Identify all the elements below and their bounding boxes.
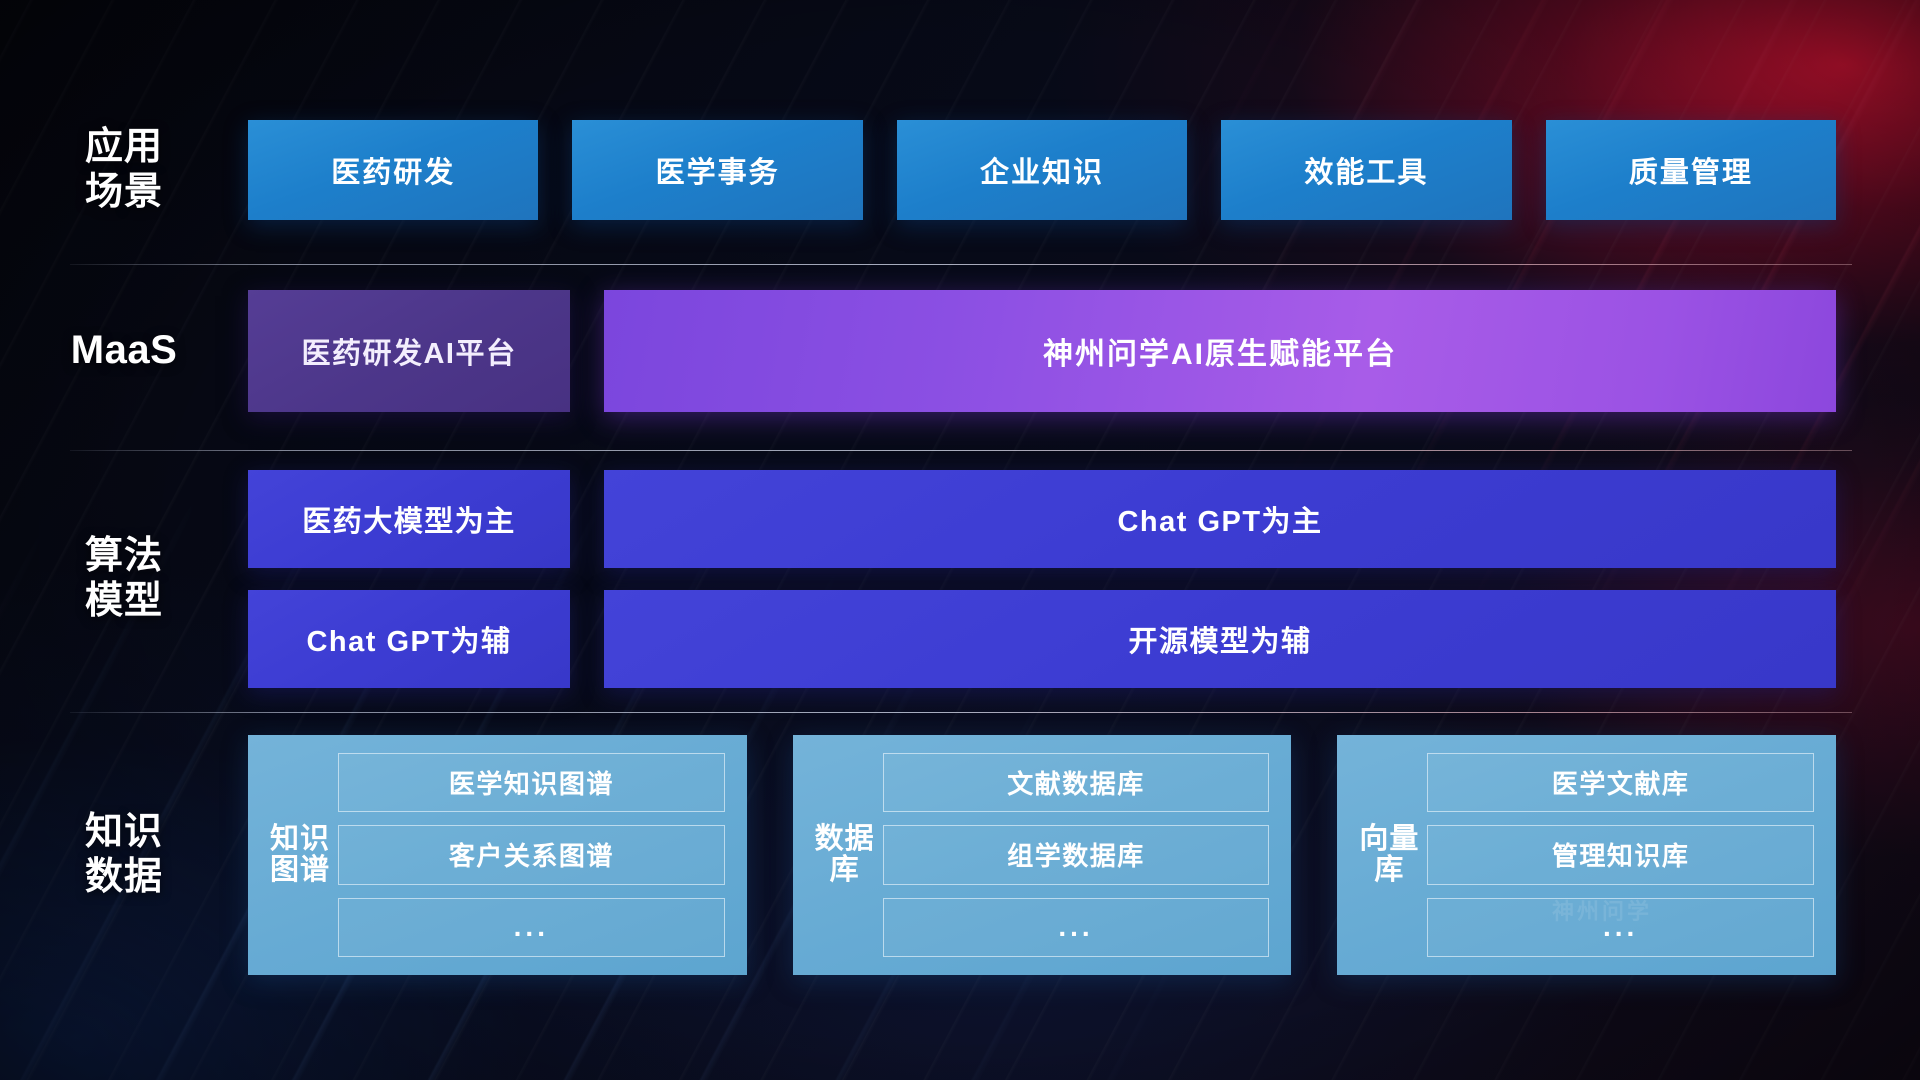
knowledge-item-list: 医学文献库 管理知识库 ... <box>1427 753 1814 957</box>
application-card[interactable]: 医学事务 <box>572 120 862 220</box>
algorithm-row: 医药大模型为主 Chat GPT为主 <box>248 470 1836 568</box>
knowledge-item-list: 文献数据库 组学数据库 ... <box>883 753 1270 957</box>
maas-enablement-card[interactable]: 神州问学AI原生赋能平台 <box>604 290 1836 412</box>
application-card-list: 医药研发 医学事务 企业知识 效能工具 质量管理 <box>248 120 1836 220</box>
application-card[interactable]: 医药研发 <box>248 120 538 220</box>
knowledge-item[interactable]: 管理知识库 <box>1427 825 1814 884</box>
divider-maas-algorithm <box>70 450 1852 451</box>
application-card[interactable]: 效能工具 <box>1221 120 1511 220</box>
knowledge-card-database[interactable]: 数据库 文献数据库 组学数据库 ... <box>793 735 1292 975</box>
layer-label-application: 应用 场景 <box>0 125 248 215</box>
layer-maas: MaaS 医药研发AI平台 神州问学AI原生赋能平台 <box>0 290 1920 412</box>
layer-label-maas: MaaS <box>0 327 248 374</box>
layer-body-application: 医药研发 医学事务 企业知识 效能工具 质量管理 <box>248 120 1920 220</box>
knowledge-item[interactable]: 医学知识图谱 <box>338 753 725 812</box>
knowledge-item-more[interactable]: ... <box>338 898 725 957</box>
knowledge-item-list: 医学知识图谱 客户关系图谱 ... <box>338 753 725 957</box>
knowledge-card-list: 知识图谱 医学知识图谱 客户关系图谱 ... 数据库 文献数据库 组学数据库 .… <box>248 735 1836 975</box>
layer-label-knowledge: 知识 数据 <box>0 810 248 900</box>
knowledge-card-graph[interactable]: 知识图谱 医学知识图谱 客户关系图谱 ... <box>248 735 747 975</box>
maas-card-list: 医药研发AI平台 神州问学AI原生赋能平台 <box>248 290 1836 412</box>
divider-algorithm-knowledge <box>70 712 1852 713</box>
algorithm-secondary-left-card[interactable]: Chat GPT为辅 <box>248 590 570 688</box>
knowledge-item[interactable]: 客户关系图谱 <box>338 825 725 884</box>
knowledge-item-more[interactable]: ... <box>883 898 1270 957</box>
knowledge-item[interactable]: 医学文献库 <box>1427 753 1814 812</box>
knowledge-card-title: 向量库 <box>1351 753 1427 957</box>
slide-canvas: 应用 场景 医药研发 医学事务 企业知识 效能工具 质量管理 MaaS 医药研发… <box>0 0 1920 1080</box>
diagram-content: 应用 场景 医药研发 医学事务 企业知识 效能工具 质量管理 MaaS 医药研发… <box>0 0 1920 1080</box>
layer-application-scenarios: 应用 场景 医药研发 医学事务 企业知识 效能工具 质量管理 <box>0 120 1920 220</box>
algorithm-primary-right-card[interactable]: Chat GPT为主 <box>604 470 1836 568</box>
algorithm-card-list: 医药大模型为主 Chat GPT为主 Chat GPT为辅 开源模型为辅 <box>248 470 1836 688</box>
knowledge-item-more[interactable]: ... <box>1427 898 1814 957</box>
layer-body-maas: 医药研发AI平台 神州问学AI原生赋能平台 <box>248 290 1920 412</box>
algorithm-row: Chat GPT为辅 开源模型为辅 <box>248 590 1836 688</box>
algorithm-secondary-right-card[interactable]: 开源模型为辅 <box>604 590 1836 688</box>
knowledge-card-title: 数据库 <box>807 753 883 957</box>
application-card[interactable]: 质量管理 <box>1546 120 1836 220</box>
divider-application-maas <box>70 264 1852 265</box>
application-card[interactable]: 企业知识 <box>897 120 1187 220</box>
maas-platform-card[interactable]: 医药研发AI平台 <box>248 290 570 412</box>
algorithm-primary-left-card[interactable]: 医药大模型为主 <box>248 470 570 568</box>
knowledge-card-title: 知识图谱 <box>262 753 338 957</box>
layer-label-algorithm: 算法 模型 <box>0 534 248 624</box>
layer-knowledge-data: 知识 数据 知识图谱 医学知识图谱 客户关系图谱 ... 数据库 <box>0 735 1920 975</box>
knowledge-item[interactable]: 文献数据库 <box>883 753 1270 812</box>
layer-algorithm-models: 算法 模型 医药大模型为主 Chat GPT为主 Chat GPT为辅 开源模型… <box>0 470 1920 688</box>
layer-body-algorithm: 医药大模型为主 Chat GPT为主 Chat GPT为辅 开源模型为辅 <box>248 470 1920 688</box>
knowledge-item[interactable]: 组学数据库 <box>883 825 1270 884</box>
knowledge-card-vector[interactable]: 向量库 医学文献库 管理知识库 ... <box>1337 735 1836 975</box>
layer-body-knowledge: 知识图谱 医学知识图谱 客户关系图谱 ... 数据库 文献数据库 组学数据库 .… <box>248 735 1920 975</box>
